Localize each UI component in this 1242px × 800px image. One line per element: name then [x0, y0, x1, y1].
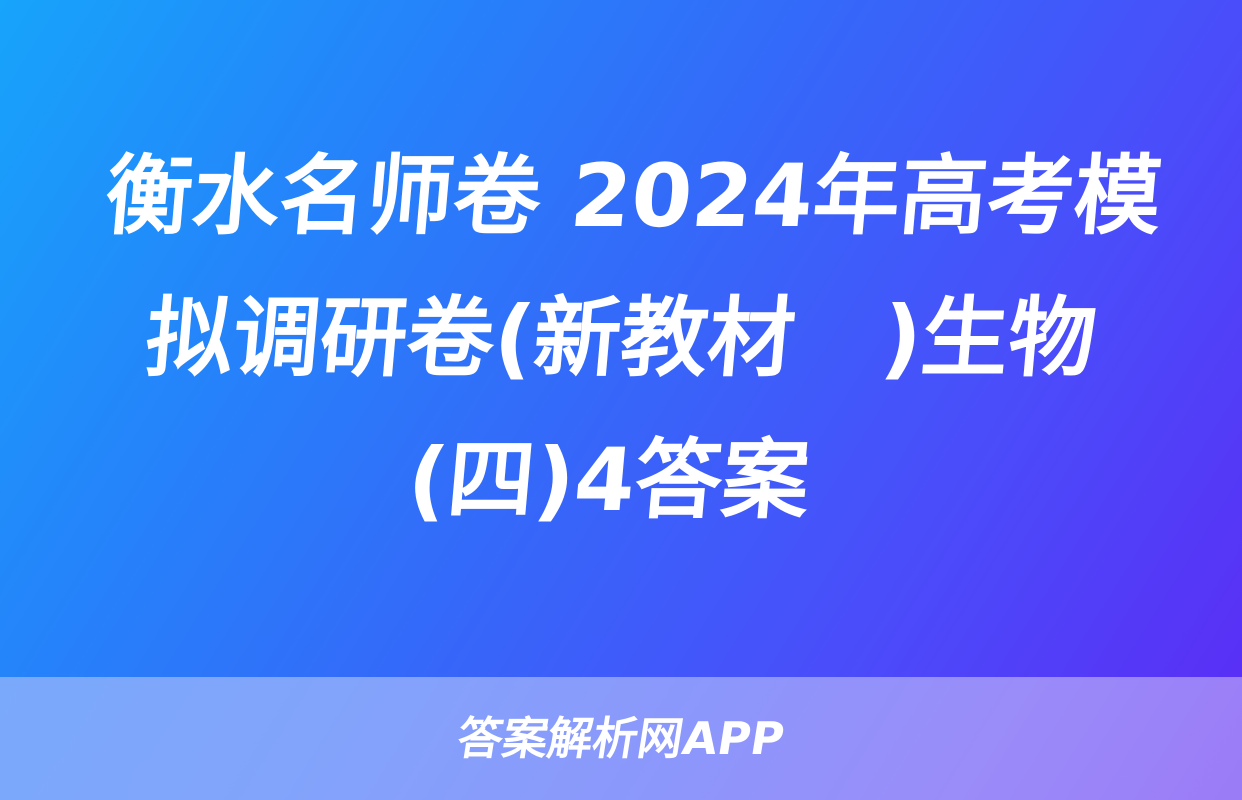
page-title: 衡水名师卷 2024年高考模拟调研卷(新教材 )生物(四)4答案	[55, 126, 1186, 551]
cover-card: 衡水名师卷 2024年高考模拟调研卷(新教材 )生物(四)4答案 答案解析网AP…	[0, 0, 1242, 800]
app-watermark-label: 答案解析网APP	[455, 716, 788, 761]
watermark-band: 答案解析网APP	[0, 677, 1242, 800]
title-area: 衡水名师卷 2024年高考模拟调研卷(新教材 )生物(四)4答案	[0, 0, 1242, 677]
